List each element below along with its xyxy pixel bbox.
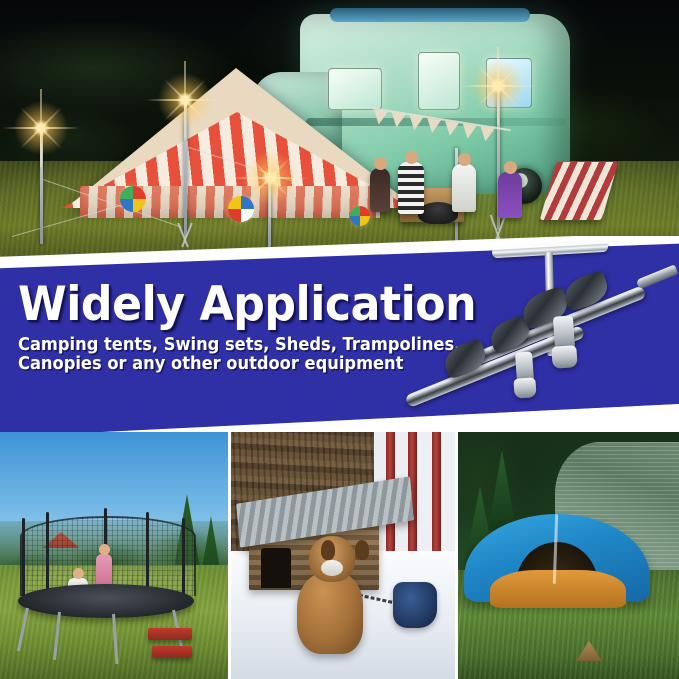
product-feature-poster: Widely Application Camping tents, Swing … — [0, 0, 679, 679]
banner-band: Widely Application Camping tents, Swing … — [0, 236, 679, 448]
bunting-flag — [443, 121, 459, 137]
product-ground-anchor-auger — [430, 236, 679, 436]
banner-text-block: Widely Application Camping tents, Swing … — [18, 280, 488, 374]
net-post — [22, 518, 25, 600]
drill-adapter-chuck — [513, 377, 536, 398]
person-head — [504, 161, 517, 174]
dog-body — [297, 572, 363, 654]
trampoline-mat — [18, 584, 194, 618]
net-post — [182, 518, 185, 600]
pinwheel-icon — [120, 186, 146, 212]
rv-window — [418, 52, 460, 110]
headline-widely-application: Widely Application — [18, 280, 460, 330]
drill-adapter-chuck — [551, 345, 577, 369]
photo-divider — [455, 432, 458, 679]
subline-applications-1: Camping tents, Swing sets, Sheds, Trampo… — [18, 336, 455, 355]
camper-person — [498, 172, 522, 218]
pinwheel-icon — [228, 196, 254, 222]
blue-harness — [393, 582, 437, 628]
photo-divider — [228, 432, 231, 679]
bunting-flag — [425, 118, 441, 134]
photo-night-camping — [0, 0, 679, 268]
dog-ear — [355, 540, 369, 560]
photo-dome-tent-lake — [458, 432, 679, 679]
camper-person — [370, 168, 390, 212]
dog-ear — [321, 540, 335, 560]
dog-snout — [321, 560, 343, 576]
subline-applications-2: Canopies or any other outdoor equipment — [18, 355, 455, 374]
bunting-flag — [478, 127, 494, 143]
pinwheel-icon — [350, 206, 370, 226]
red-step-ladder — [152, 646, 192, 658]
child-head — [73, 568, 84, 579]
photo-dog-house-snow — [231, 432, 455, 679]
red-step-ladder — [148, 628, 192, 640]
kennel-doorway — [261, 548, 291, 588]
bunting-flag — [407, 115, 423, 131]
child-head — [99, 544, 110, 555]
camper-person — [398, 162, 424, 214]
auger-tip — [636, 264, 679, 289]
bottom-photo-row — [0, 432, 679, 679]
rv-roof — [330, 8, 530, 22]
tent-orange-floor — [490, 570, 626, 608]
bunting-flag — [461, 124, 477, 140]
person-head — [374, 157, 387, 170]
camp-light-pole — [40, 126, 43, 244]
dog — [293, 536, 371, 654]
person-head — [458, 153, 471, 166]
net-post — [46, 512, 49, 600]
bunting-flag — [372, 110, 388, 126]
camper-person — [452, 164, 476, 212]
rv-windshield — [486, 58, 532, 108]
dome-tent — [464, 512, 650, 616]
photo-backyard-trampoline — [0, 432, 228, 679]
person-head — [405, 151, 418, 164]
bunting-flag — [390, 112, 406, 128]
camp-light-pole — [184, 96, 187, 238]
